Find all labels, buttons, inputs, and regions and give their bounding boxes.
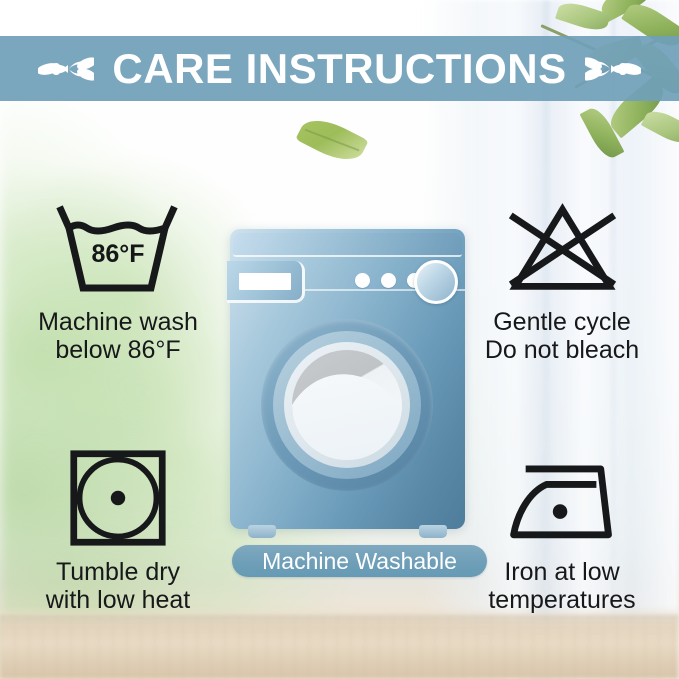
triangle-crossed-out-icon: [457, 196, 667, 300]
wash-tub-icon: 86°F: [13, 196, 223, 300]
washing-machine-illustration: [230, 207, 465, 537]
table-grain: [0, 615, 679, 679]
floating-leaf-icon: [295, 111, 368, 169]
care-symbol-tumble-dry: Tumble dry with low heat: [13, 446, 223, 614]
machine-foot: [419, 525, 447, 538]
machine-foot: [248, 525, 276, 538]
tumble-dry-low-icon: [13, 446, 223, 550]
care-symbol-caption: Machine wash below 86°F: [13, 308, 223, 364]
indicator-light: [355, 273, 370, 288]
fleur-de-lis-icon: [585, 45, 641, 93]
machine-top-lid: [233, 233, 462, 257]
care-symbol-iron-low: Iron at low temperatures: [457, 446, 667, 614]
indicator-lights: [355, 273, 422, 288]
header-banner: CARE INSTRUCTIONS: [0, 36, 679, 101]
machine-door[interactable]: [261, 319, 433, 491]
care-instructions-infographic: CARE INSTRUCTIONS 86°F: [0, 0, 679, 679]
wash-temperature-value: 86°F: [13, 240, 223, 269]
page-title: CARE INSTRUCTIONS: [112, 48, 566, 90]
iron-one-dot-icon: [457, 446, 667, 550]
detergent-drawer[interactable]: [227, 261, 305, 303]
detergent-drawer-slot: [239, 273, 291, 290]
indicator-light: [381, 273, 396, 288]
care-symbol-caption: Tumble dry with low heat: [13, 558, 223, 614]
care-symbol-do-not-bleach: Gentle cycle Do not bleach: [457, 196, 667, 364]
machine-door-ring: [273, 331, 421, 479]
fleur-de-lis-icon: [38, 45, 94, 93]
machine-door-rim: [284, 342, 410, 468]
program-dial-knob[interactable]: [414, 260, 458, 304]
machine-door-glass: [292, 350, 402, 460]
machine-washable-badge-label: Machine Washable: [262, 550, 457, 573]
care-symbol-machine-wash: 86°F Machine wash below 86°F: [13, 196, 223, 364]
care-symbol-caption: Iron at low temperatures: [457, 558, 667, 614]
care-symbol-caption: Gentle cycle Do not bleach: [457, 308, 667, 364]
machine-washable-badge: Machine Washable: [232, 545, 487, 577]
door-glass-highlight: [292, 361, 402, 460]
machine-body: [230, 229, 465, 529]
